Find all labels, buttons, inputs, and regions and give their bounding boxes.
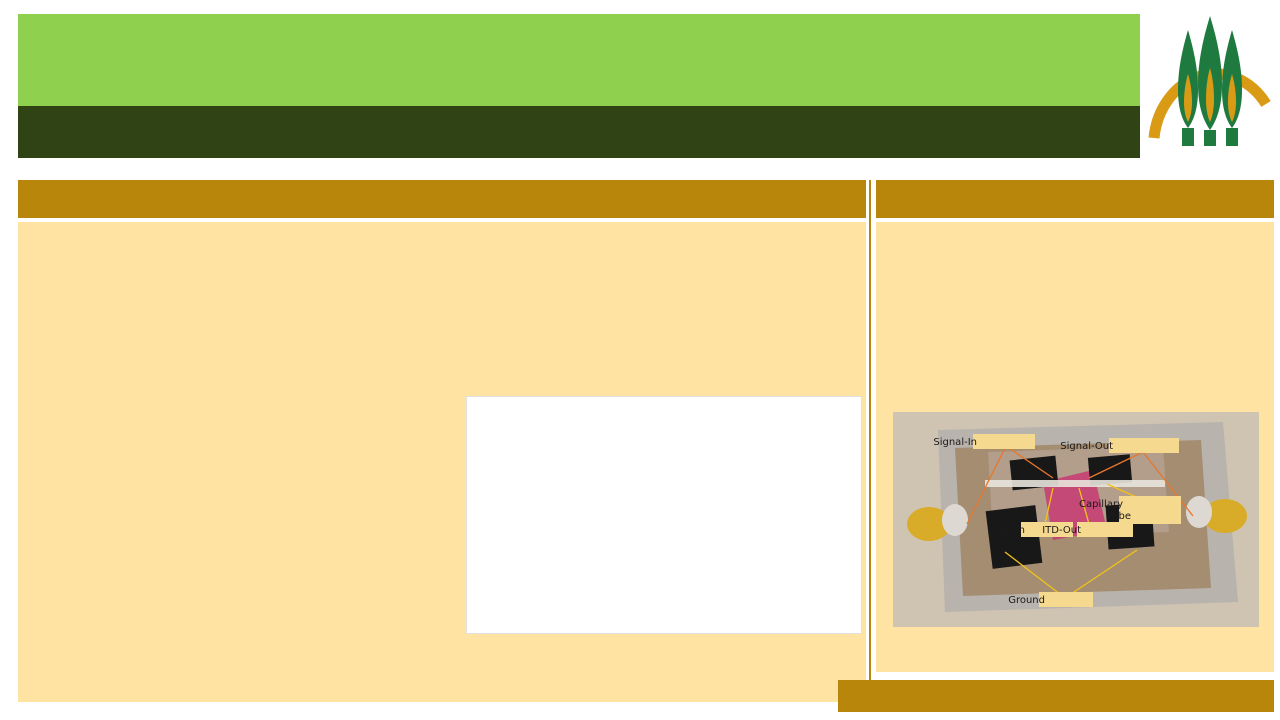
column-divider <box>869 180 871 702</box>
poster-root: Signal-In Signal-Out IDT-In ITD-Out Capi… <box>0 0 1280 720</box>
university-logo-mark <box>1146 8 1274 168</box>
svg-text:Signal-Out: Signal-Out <box>1060 441 1113 452</box>
section-header-results <box>18 180 866 218</box>
svg-text:tube: tube <box>1108 511 1131 522</box>
svg-text:IDT-In: IDT-In <box>996 525 1025 536</box>
chart-vsl-violin <box>30 226 248 431</box>
section-header-method <box>876 180 1274 218</box>
university-logo <box>1146 8 1274 168</box>
separation-experiment-diagram <box>466 396 862 634</box>
poster-title-bar <box>18 14 1140 106</box>
supervisor-footer-bar <box>838 680 1274 712</box>
svg-text:Ground: Ground <box>1008 595 1045 606</box>
chart-vap-violin <box>252 226 442 431</box>
svg-text:Signal-In: Signal-In <box>933 437 977 448</box>
svg-text:ITD-Out: ITD-Out <box>1042 525 1081 536</box>
device-photo-graphic: Signal-In Signal-Out IDT-In ITD-Out Capi… <box>893 412 1259 627</box>
svg-text:Capillary: Capillary <box>1079 499 1123 510</box>
device-photograph: Signal-In Signal-Out IDT-In ITD-Out Capi… <box>893 412 1259 627</box>
chart-vcl-violin <box>26 452 226 657</box>
author-contact-bar <box>18 106 1140 158</box>
chart-progressive-motility-bar <box>222 452 458 657</box>
